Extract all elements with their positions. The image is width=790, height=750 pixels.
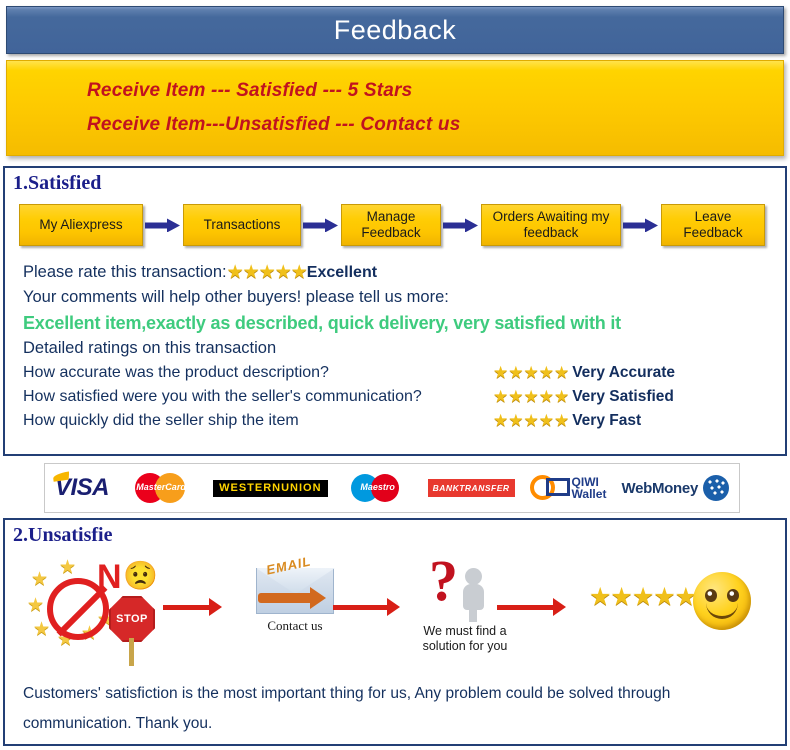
detail-question: How quickly did the seller ship the item [23,409,493,433]
flow-step-manage-feedback[interactable]: Manage Feedback [341,204,441,246]
comments-prompt-label: Your comments will help other buyers! pl… [23,285,449,310]
rate-transaction-label: Please rate this transaction: [23,260,227,285]
flow-step-orders-awaiting-feedback[interactable]: Orders Awaiting my feedback [481,204,621,246]
buyer-comment-text: Excellent item,exactly as described, qui… [23,310,785,336]
flow-arrow-icon [143,204,183,246]
stop-sign-text: STOP [116,613,148,625]
unsatisfied-flow: ★ ★ ★ ★ ★ ★ ★ N 😟 STOP [5,548,785,673]
subtitle-line-satisfied: Receive Item --- Satisfied --- 5 Stars [87,74,783,108]
detail-stars-group[interactable]: ★★★★★ Very Fast [493,409,641,433]
find-solution-caption: We must find a solution for you [405,624,525,654]
visa-logo: VISA [55,474,109,502]
no-text-label: N [97,560,122,594]
western-union-line1: WESTERN [219,483,281,494]
detail-stars-group[interactable]: ★★★★★ Very Satisfied [493,385,674,409]
detailed-ratings-heading: Detailed ratings on this transaction [23,336,785,361]
detail-stars[interactable]: ★★★★★ [493,361,569,385]
webmoney-logo: WebMoney [622,475,730,501]
visa-logo-text: VISA [55,474,109,502]
satisfied-heading: 1.Satisfied [13,172,785,194]
flow-step-transactions[interactable]: Transactions [183,204,301,246]
email-envelope-icon: EMAIL [252,554,338,616]
feedback-header-banner: Feedback [6,6,784,54]
mastercard-logo: MasterCard [124,473,198,503]
qiwi-wallet-icon [530,474,570,502]
detail-row: How accurate was the product description… [23,361,785,385]
sad-face-icon: 😟 [123,562,158,590]
flow-arrow-icon [621,204,661,246]
detail-stars-group[interactable]: ★★★★★ Very Accurate [493,361,675,385]
feedback-infographic: Feedback Receive Item --- Satisfied --- … [0,0,790,750]
red-arrow-icon [163,598,222,616]
detail-question: How accurate was the product description… [23,361,493,385]
rate-transaction-row: Please rate this transaction: ★★★★★ Exce… [23,260,785,285]
bank-transfer-line1: BANK [433,483,460,493]
subtitle-banner: Receive Item --- Satisfied --- 5 Stars R… [6,60,784,156]
unsatisfied-heading: 2.Unsatisfie [13,524,785,546]
closing-statement: Customers' satisfiction is the most impo… [23,679,771,739]
maestro-logo: Maestro [343,474,413,502]
flow-step-leave-feedback[interactable]: Leave Feedback [661,204,765,246]
flow-step-my-aliexpress[interactable]: My Aliexpress [19,204,143,246]
detail-rating-label: Very Satisfied [572,385,674,409]
contact-us-caption: Contact us [230,618,360,634]
final-rating-stars[interactable]: ★★★★★ [589,583,696,611]
satisfied-panel: 1.Satisfied My Aliexpress Transactions M… [3,166,787,456]
page-title: Feedback [334,15,457,46]
webmoney-globe-icon [703,475,729,501]
webmoney-logo-text: WebMoney [622,480,699,497]
comments-prompt: Your comments will help other buyers! pl… [23,285,785,310]
mastercard-logo-text: MasterCard [124,482,198,492]
detail-rating-label: Very Accurate [572,361,675,385]
contact-us-step[interactable]: EMAIL Contact us [230,554,360,634]
western-union-line2: UNION [281,483,321,494]
rate-transaction-value: Excellent [307,260,377,285]
ratings-block: Please rate this transaction: ★★★★★ Exce… [23,260,785,433]
payment-methods-bar: VISA MasterCard WESTERN UNION Maestro BA… [44,463,740,513]
satisfied-flow: My Aliexpress Transactions Manage Feedba… [19,204,785,246]
western-union-logo: WESTERN UNION [213,480,327,497]
detail-row: How quickly did the seller ship the item… [23,409,785,433]
question-mark-icon: ? [425,552,505,622]
rate-transaction-stars[interactable]: ★★★★★ [227,263,307,282]
bank-transfer-logo: BANK TRANSFER [428,479,515,497]
detail-stars[interactable]: ★★★★★ [493,385,569,409]
flow-arrow-icon [301,204,341,246]
detail-stars[interactable]: ★★★★★ [493,409,569,433]
unsatisfied-panel: 2.Unsatisfie ★ ★ ★ ★ ★ ★ ★ N 😟 STOP [3,518,787,746]
subtitle-line-unsatisfied: Receive Item---Unsatisfied --- Contact u… [87,108,783,142]
happy-face-icon [693,572,751,630]
detail-row: How satisfied were you with the seller's… [23,385,785,409]
red-arrow-icon [497,598,566,616]
detailed-ratings-label: Detailed ratings on this transaction [23,336,276,361]
qiwi-line2: Wallet [572,488,607,500]
detail-question: How satisfied were you with the seller's… [23,385,493,409]
qiwi-wallet-logo: QIWI Wallet [530,474,607,502]
final-rating-stars-group[interactable]: ★★★★★ [589,588,696,610]
red-arrow-icon [333,598,400,616]
detail-rating-label: Very Fast [572,409,641,433]
stop-sign-icon: STOP [109,596,155,642]
flow-arrow-icon [441,204,481,246]
bank-transfer-line2: TRANSFER [459,483,509,493]
maestro-logo-text: Maestro [343,482,413,492]
